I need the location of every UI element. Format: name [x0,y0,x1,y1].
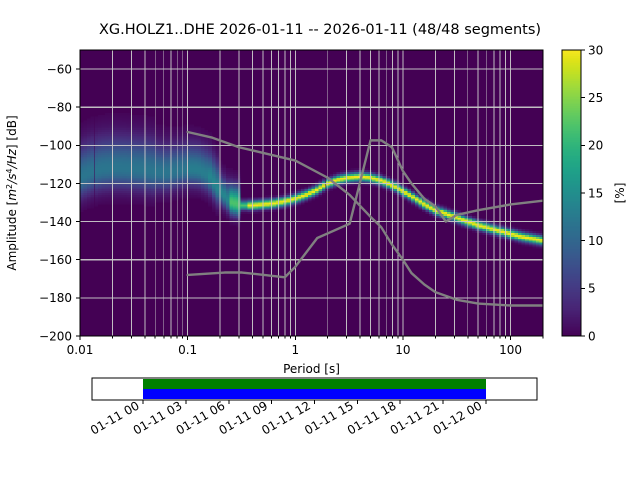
ppsd-bin [215,204,219,206]
ppsd-bin [237,189,241,191]
ppsd-bin [91,142,95,144]
ppsd-bin [215,206,219,208]
ppsd-bin [141,153,145,155]
ppsd-bin [133,124,137,126]
ppsd-bin [123,157,127,159]
ppsd-bin [137,161,141,163]
ppsd-bin [458,225,462,227]
ppsd-bin [165,130,169,132]
ppsd-bin [443,214,447,216]
ppsd-bin [479,227,483,229]
ppsd-bin [84,140,88,142]
ppsd-bin [151,166,155,168]
ppsd-bin [329,187,333,189]
ppsd-bin [226,172,230,174]
ppsd-bin [94,176,98,178]
ppsd-bin [198,153,202,155]
ppsd-bin [94,134,98,136]
ppsd-bin [447,210,451,212]
ppsd-bin [119,132,123,134]
ppsd-bin [194,197,198,199]
ppsd-bin [126,115,130,117]
ppsd-bin [148,166,152,168]
ppsd-bin [98,124,102,126]
ppsd-bin [91,128,95,130]
ppsd-bin [219,161,223,163]
ppsd-bin [119,193,123,195]
ppsd-bin [84,136,88,138]
ppsd-bin [98,185,102,187]
ppsd-bin [372,176,376,178]
ppsd-bin [222,164,226,166]
ppsd-bin [379,172,383,174]
ppsd-bin [116,117,120,119]
ppsd-bin [379,174,383,176]
ppsd-bin [183,134,187,136]
ppsd-bin [165,170,169,172]
ppsd-bin [436,204,440,206]
ppsd-bin [297,189,301,191]
ppsd-bin [108,117,112,119]
ppsd-bin [322,191,326,193]
ppsd-bin [212,157,216,159]
ppsd-bin [226,206,230,208]
ppsd-bin [105,113,109,115]
ppsd-bin [123,132,127,134]
ppsd-bin [101,178,105,180]
ppsd-bin [84,203,88,205]
ppsd-bin [141,189,145,191]
ppsd-bin [401,197,405,199]
ppsd-bin [255,199,259,201]
ppsd-bin [237,180,241,182]
ppsd-bin [165,157,169,159]
ppsd-bin [123,168,127,170]
ppsd-bin [401,193,405,195]
ppsd-bin [98,134,102,136]
ppsd-bin [436,218,440,220]
ppsd-bin [205,172,209,174]
ppsd-bin [176,128,180,130]
ppsd-bin [215,161,219,163]
ppsd-bin [126,201,130,203]
ppsd-bin [87,180,91,182]
ppsd-bin [222,174,226,176]
ppsd-bin [255,201,259,203]
ppsd-bin [450,208,454,210]
ppsd-bin [215,199,219,201]
ppsd-bin [237,225,241,227]
ppsd-bin [536,233,540,235]
ppsd-bin [94,124,98,126]
ppsd-bin [165,191,169,193]
ppsd-bin [515,235,519,237]
ppsd-bin [141,142,145,144]
ppsd-bin [84,134,88,136]
ppsd-bin [490,231,494,233]
ppsd-bin [91,199,95,201]
ppsd-bin [123,180,127,182]
ppsd-bin [194,193,198,195]
ppsd-bin [133,195,137,197]
ppsd-bin [137,117,141,119]
ppsd-bin [173,140,177,142]
ppsd-bin [119,176,123,178]
ppsd-bin [94,174,98,176]
ppsd-bin [183,195,187,197]
ppsd-bin [158,159,162,161]
ppsd-bin [158,161,162,163]
ppsd-bin [87,147,91,149]
ppsd-bin [354,170,358,172]
ppsd-bin [233,212,237,214]
ppsd-bin [91,132,95,134]
ppsd-bin [422,208,426,210]
ppsd-bin [222,204,226,206]
ppsd-bin [312,195,316,197]
ppsd-bin [198,185,202,187]
ppsd-bin [219,193,223,195]
ppsd-bin [126,138,130,140]
ppsd-bin [87,121,91,123]
ppsd-bin [119,153,123,155]
ppsd-bin [272,210,276,212]
ppsd-bin [141,170,145,172]
y-tick-label: −200 [39,329,72,343]
colorbar-label: [%] [613,183,627,204]
ppsd-bin [91,121,95,123]
ppsd-bin [137,197,141,199]
ppsd-bin [176,161,180,163]
ppsd-bin [329,185,333,187]
ppsd-bin [108,203,112,205]
ppsd-bin [119,180,123,182]
ppsd-bin [340,170,344,172]
ppsd-bin [119,164,123,166]
ppsd-bin [101,199,105,201]
ppsd-bin [525,244,529,246]
ppsd-bin [230,201,234,203]
ppsd-bin [201,149,205,151]
ppsd-bin [148,162,152,164]
ppsd-bin [522,229,526,231]
ppsd-bin [158,178,162,180]
ppsd-bin [230,195,234,197]
ppsd-bin [237,212,241,214]
ppsd-bin [105,142,109,144]
ppsd-bin [101,195,105,197]
ppsd-bin [101,119,105,121]
ppsd-bin [133,153,137,155]
ppsd-bin [183,170,187,172]
ppsd-bin [141,197,145,199]
ppsd-bin [262,197,266,199]
ppsd-bin [84,166,88,168]
ppsd-bin [404,199,408,201]
ppsd-bin [425,204,429,206]
ppsd-bin [101,121,105,123]
ppsd-bin [515,239,519,241]
ppsd-bin [183,128,187,130]
ppsd-bin [333,187,337,189]
y-tick-label: −80 [47,101,72,115]
ppsd-bin [87,122,91,124]
ppsd-bin [183,164,187,166]
ppsd-bin [84,170,88,172]
ppsd-bin [165,126,169,128]
ppsd-bin [116,174,120,176]
ppsd-bin [215,189,219,191]
y-tick-label: −180 [39,291,72,305]
ppsd-bin [226,178,230,180]
ppsd-bin [123,117,127,119]
ppsd-bin [447,212,451,214]
ppsd-bin [151,195,155,197]
ppsd-bin [133,201,137,203]
ppsd-bin [123,113,127,115]
ppsd-bin [151,174,155,176]
ppsd-bin [194,191,198,193]
ppsd-bin [333,172,337,174]
ppsd-bin [479,225,483,227]
y-tick-label: −160 [39,253,72,267]
ppsd-bin [105,203,109,205]
ppsd-bin [94,136,98,138]
ppsd-bin [98,161,102,163]
ppsd-bin [98,132,102,134]
ppsd-bin [123,201,127,203]
ppsd-bin [176,170,180,172]
ppsd-bin [215,212,219,214]
ppsd-bin [105,119,109,121]
ppsd-bin [230,203,234,205]
ppsd-bin [141,164,145,166]
ppsd-bin [126,151,130,153]
ppsd-bin [201,130,205,132]
ppsd-bin [415,195,419,197]
ppsd-bin [148,136,152,138]
ppsd-bin [436,214,440,216]
ppsd-bin [208,170,212,172]
ppsd-bin [194,172,198,174]
ppsd-bin [87,157,91,159]
ppsd-bin [119,185,123,187]
ppsd-bin [205,138,209,140]
ppsd-bin [532,231,536,233]
ppsd-bin [91,203,95,205]
ppsd-bin [247,203,251,205]
ppsd-bin [176,199,180,201]
ppsd-bin [148,117,152,119]
ppsd-bin [244,197,248,199]
ppsd-bin [91,164,95,166]
ppsd-bin [84,206,88,208]
ppsd-bin [141,147,145,149]
ppsd-bin [212,172,216,174]
ppsd-bin [119,119,123,121]
ppsd-bin [383,185,387,187]
ppsd-bin [94,119,98,121]
ppsd-bin [418,206,422,208]
ppsd-bin [94,166,98,168]
ppsd-bin [190,191,194,193]
ppsd-bin [233,197,237,199]
ppsd-bin [151,176,155,178]
ppsd-bin [322,189,326,191]
ppsd-bin [141,178,145,180]
ppsd-bin [119,170,123,172]
ppsd-bin [194,185,198,187]
ppsd-bin [208,140,212,142]
ppsd-bin [84,197,88,199]
ppsd-bin [500,237,504,239]
ppsd-bin [151,124,155,126]
ppsd-bin [347,180,351,182]
ppsd-bin [297,203,301,205]
ppsd-bin [148,140,152,142]
ppsd-bin [237,195,241,197]
ppsd-bin [101,151,105,153]
ppsd-bin [212,178,216,180]
ppsd-bin [219,212,223,214]
ppsd-bin [173,166,177,168]
ppsd-bin [237,170,241,172]
ppsd-bin [383,189,387,191]
ppsd-bin [98,195,102,197]
ppsd-bin [422,210,426,212]
ppsd-bin [126,128,130,130]
ppsd-bin [233,203,237,205]
ppsd-bin [91,122,95,124]
ppsd-bin [336,180,340,182]
ppsd-bin [101,164,105,166]
ppsd-bin [205,187,209,189]
ppsd-bin [101,180,105,182]
ppsd-bin [148,191,152,193]
ppsd-bin [91,197,95,199]
ppsd-bin [105,168,109,170]
ppsd-bin [230,172,234,174]
ppsd-bin [408,189,412,191]
ppsd-bin [141,193,145,195]
ppsd-bin [133,147,137,149]
ppsd-bin [233,176,237,178]
ppsd-bin [525,235,529,237]
ppsd-bin [165,193,169,195]
ppsd-bin [226,170,230,172]
ppsd-bin [208,159,212,161]
ppsd-bin [148,138,152,140]
ppsd-bin [397,185,401,187]
ppsd-bin [158,142,162,144]
ppsd-bin [98,117,102,119]
ppsd-bin [205,142,209,144]
ppsd-bin [279,208,283,210]
ppsd-bin [151,117,155,119]
ppsd-bin [91,166,95,168]
ppsd-bin [198,172,202,174]
ppsd-bin [116,155,120,157]
ppsd-bin [137,132,141,134]
ppsd-bin [194,161,198,163]
ppsd-bin [123,161,127,163]
ppsd-bin [98,119,102,121]
ppsd-bin [415,197,419,199]
ppsd-bin [105,117,109,119]
ppsd-bin [98,178,102,180]
ppsd-bin [101,187,105,189]
ppsd-bin [237,208,241,210]
ppsd-bin [536,231,540,233]
ppsd-bin [222,187,226,189]
ppsd-bin [126,176,130,178]
ppsd-bin [173,159,177,161]
ppsd-bin [165,128,169,130]
ppsd-bin [308,201,312,203]
ppsd-bin [222,203,226,205]
ppsd-bin [361,180,365,182]
ppsd-bin [308,185,312,187]
ppsd-bin [522,235,526,237]
ppsd-bin [133,189,137,191]
ppsd-bin [133,117,137,119]
ppsd-bin [198,159,202,161]
ppsd-bin [518,229,522,231]
ppsd-bin [119,172,123,174]
ppsd-bin [94,132,98,134]
ppsd-bin [205,159,209,161]
ppsd-bin [215,191,219,193]
ppsd-bin [151,172,155,174]
ppsd-bin [304,187,308,189]
ppsd-bin [319,189,323,191]
ppsd-bin [219,195,223,197]
ppsd-bin [230,208,234,210]
ppsd-bin [101,134,105,136]
ppsd-bin [208,197,212,199]
ppsd-bin [116,113,120,115]
ppsd-bin [133,193,137,195]
ppsd-bin [194,164,198,166]
y-axis-label: Amplitude [m2/s4/Hz] [dB] [5,115,19,270]
ppsd-bin [173,155,177,157]
ppsd-bin [479,224,483,226]
ppsd-bin [301,193,305,195]
ppsd-bin [84,164,88,166]
ppsd-bin [212,210,216,212]
ppsd-bin [450,210,454,212]
x-tick-label: 0.01 [67,343,94,357]
ppsd-bin [108,115,112,117]
ppsd-bin [301,195,305,197]
ppsd-bin [91,189,95,191]
ppsd-bin [108,197,112,199]
ppsd-bin [198,128,202,130]
ppsd-bin [219,170,223,172]
ppsd-bin [490,227,494,229]
ppsd-bin [379,185,383,187]
ppsd-bin [525,243,529,245]
ppsd-bin [265,210,269,212]
ppsd-bin [215,159,219,161]
ppsd-bin [411,197,415,199]
ppsd-bin [297,191,301,193]
ppsd-bin [529,237,533,239]
ppsd-bin [98,142,102,144]
ppsd-bin [165,140,169,142]
ppsd-bin [141,140,145,142]
ppsd-bin [137,191,141,193]
